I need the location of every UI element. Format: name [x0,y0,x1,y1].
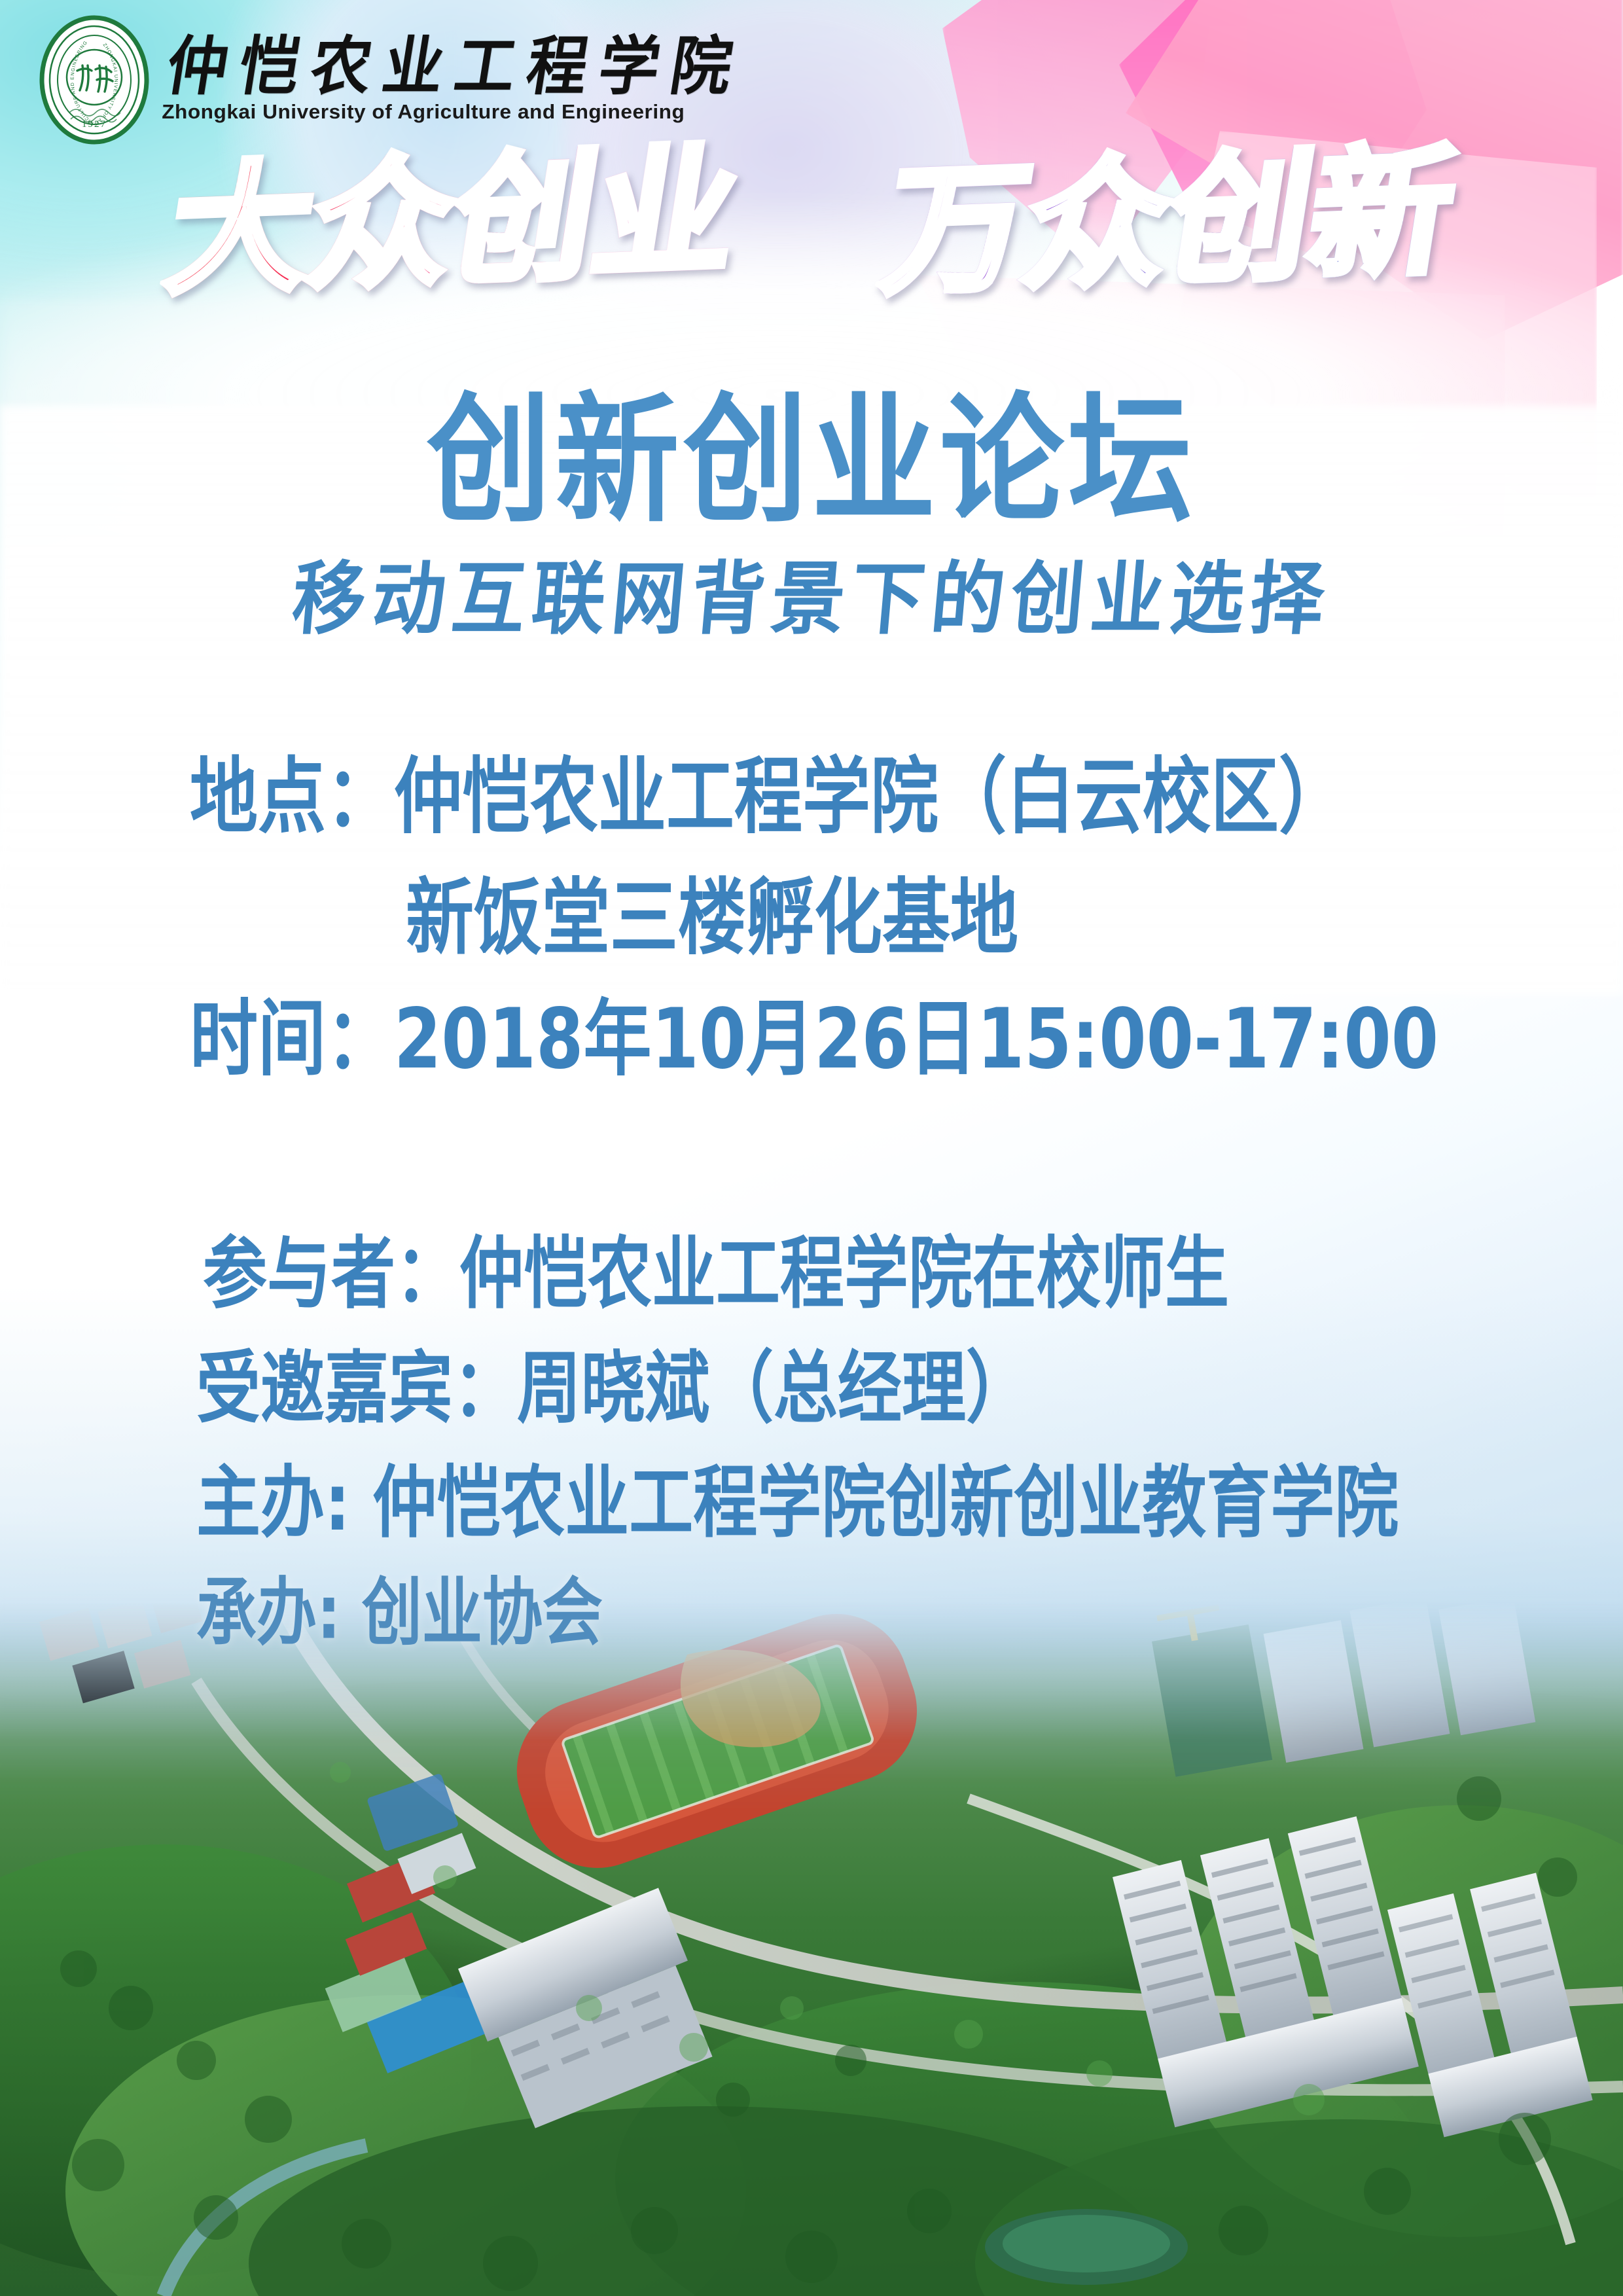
university-seal-icon: ZHONGKAI UNIVERSITY OF AGRICULTURE AND E… [38,14,151,145]
slogan-gap [784,269,840,271]
detail-host: 主办: 仲恺农业工程学院创新创业教育学院 [196,1439,1399,1552]
slogan-part-2: 万众创新 [875,140,1463,302]
main-title: 创新创业论坛 [0,385,1623,535]
detail-organizer: 承办: 创业协会 [196,1553,603,1659]
sub-title: 移动互联网背景下的创业选择 [0,560,1623,639]
detail-time: 时间：2018年10月26日15:00-17:00 [190,971,1438,1091]
university-name-en: Zhongkai University of Agriculture and E… [162,100,749,124]
slogan-part-1: 大众创业 [159,140,747,302]
detail-place-line1: 地点：仲恺农业工程学院（白云校区） [190,728,1347,849]
campus-aerial-photo [0,1602,1623,2296]
university-name-cn: 仲恺农业工程学院 [162,34,748,98]
university-name-block: 仲恺农业工程学院 Zhongkai University of Agricult… [168,36,743,124]
detail-audience: 参与者：仲恺农业工程学院在校师生 [203,1210,1229,1323]
university-logo-row: ZHONGKAI UNIVERSITY OF AGRICULTURE AND E… [38,14,743,145]
photo-detail-layer [0,1602,1623,2296]
poster-canvas: ZHONGKAI UNIVERSITY OF AGRICULTURE AND E… [0,0,1623,2296]
calligraphy-slogan: 大众创业 万众创新 [0,151,1623,291]
svg-text:1927: 1927 [82,119,107,130]
detail-guest: 受邀嘉宾：周晓斌（总经理） [196,1325,1030,1438]
detail-place-line2: 新饭堂三楼孵化基地 [406,850,1018,970]
